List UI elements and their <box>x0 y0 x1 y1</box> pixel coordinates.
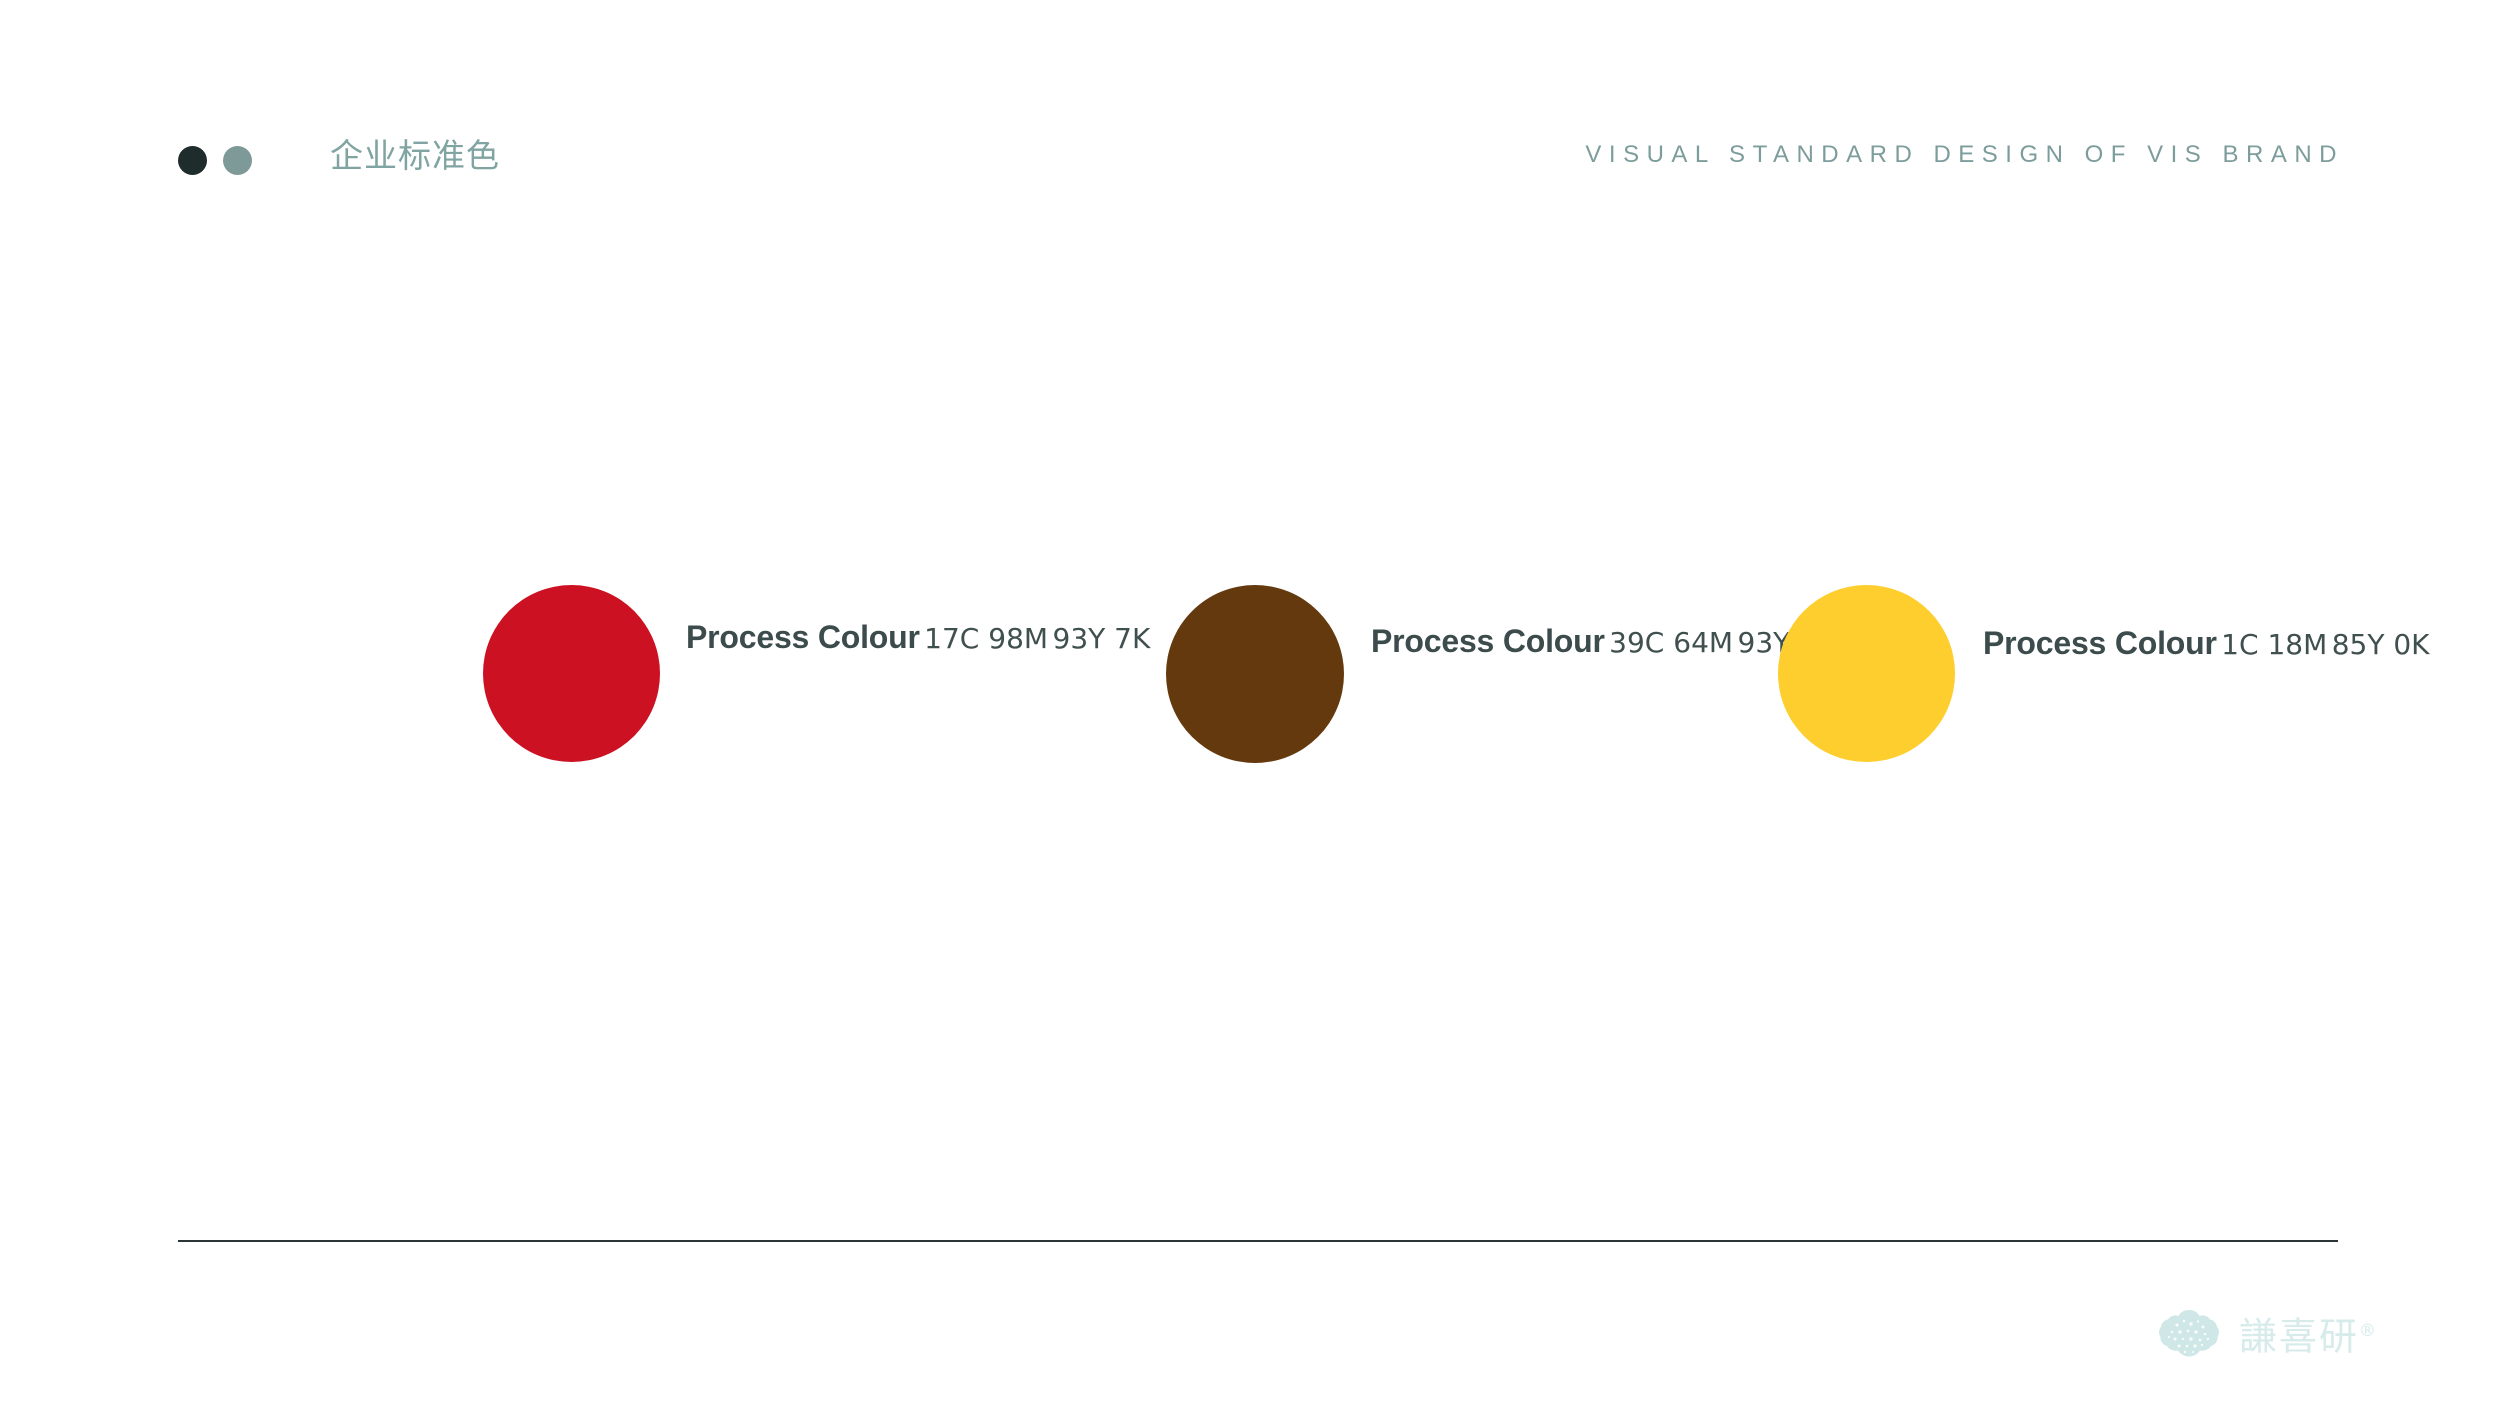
footer-logo: 謙喜研® <box>2157 1308 2376 1360</box>
colour-swatch-yellow: Process Colour 1C 18M 85Y 0K <box>1778 585 2430 762</box>
colour-name: Process Colour <box>1983 625 2217 661</box>
colour-cmyk-line-2: 93Y 7K <box>1053 622 1151 655</box>
logo-wordmark: 謙喜研® <box>2239 1308 2376 1360</box>
colour-swatch-brown: Process Colour 39C 64M 93Y 36K <box>1166 585 1853 763</box>
colour-info-brown: Process Colour 39C 64M 93Y 36K <box>1344 585 1853 664</box>
lotus-cloud-emblem-icon <box>2157 1308 2221 1360</box>
logo-wordmark-text: 謙喜研 <box>2239 1315 2359 1359</box>
footer-divider <box>178 1240 2338 1242</box>
colour-cmyk-line-2: 85Y 0K <box>2332 628 2430 661</box>
colour-swatch-row: Process Colour 17C 98M 93Y 7K Process Co… <box>0 0 2520 1418</box>
colour-info-red: Process Colour 17C 98M 93Y 7K <box>660 585 1150 660</box>
colour-name: Process Colour <box>1371 623 1605 659</box>
colour-chip-red <box>483 585 660 762</box>
colour-swatch-red: Process Colour 17C 98M 93Y 7K <box>483 585 1150 762</box>
colour-cmyk-line-1: 39C 64M <box>1609 626 1733 659</box>
colour-chip-yellow <box>1778 585 1955 762</box>
colour-cmyk-line-1: 17C 98M <box>924 622 1048 655</box>
colour-info-yellow: Process Colour 1C 18M 85Y 0K <box>1955 585 2430 666</box>
colour-name: Process Colour <box>686 619 920 655</box>
colour-cmyk-line-1: 1C 18M <box>2221 628 2327 661</box>
brand-guideline-page: 企业标准色 VISUAL STANDARD DESIGN OF VIS BRAN… <box>0 0 2520 1418</box>
colour-chip-brown <box>1166 585 1344 763</box>
registered-trademark-icon: ® <box>2359 1321 2376 1341</box>
